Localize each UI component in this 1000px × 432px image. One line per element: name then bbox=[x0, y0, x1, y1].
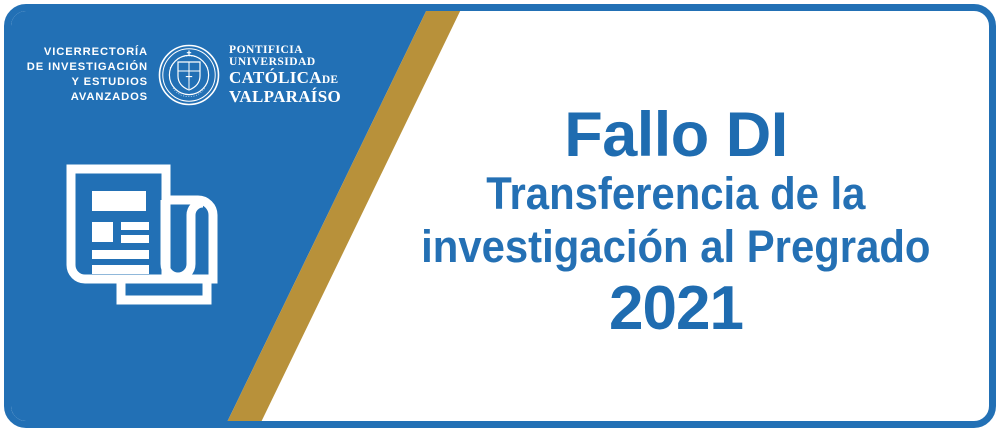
university-line-2: UNIVERSIDAD bbox=[229, 57, 341, 69]
headline-subtitle-line-1: Transferencia de la bbox=[486, 167, 865, 220]
vriea-wordmark: VICERRECTORÍA DE INVESTIGACIÓN Y ESTUDIO… bbox=[11, 45, 148, 105]
university-line-3-main: CATÓLICA bbox=[229, 68, 322, 87]
newspaper-icon bbox=[59, 153, 227, 311]
pucv-crest-icon bbox=[158, 44, 220, 106]
headline-subtitle-line-2: investigación al Pregrado bbox=[421, 220, 930, 273]
banner: VICERRECTORÍA DE INVESTIGACIÓN Y ESTUDIO… bbox=[0, 0, 1000, 432]
headline-block: Fallo DI Transferencia de la investigaci… bbox=[371, 11, 981, 428]
university-line-3: CATÓLICADE bbox=[229, 69, 341, 87]
banner-inner-frame: VICERRECTORÍA DE INVESTIGACIÓN Y ESTUDIO… bbox=[4, 4, 996, 428]
institution-header: VICERRECTORÍA DE INVESTIGACIÓN Y ESTUDIO… bbox=[11, 37, 341, 113]
vriea-line-2: DE INVESTIGACIÓN bbox=[11, 60, 148, 75]
university-name: PONTIFICIA UNIVERSIDAD CATÓLICADE VALPAR… bbox=[229, 45, 341, 105]
vriea-line-3: Y ESTUDIOS AVANZADOS bbox=[11, 75, 148, 105]
university-line-3-suffix: DE bbox=[322, 74, 339, 86]
headline-title: Fallo DI bbox=[564, 103, 788, 167]
headline-year: 2021 bbox=[609, 275, 743, 343]
university-line-4: VALPARAÍSO bbox=[229, 88, 341, 105]
vriea-line-1: VICERRECTORÍA bbox=[11, 45, 148, 60]
